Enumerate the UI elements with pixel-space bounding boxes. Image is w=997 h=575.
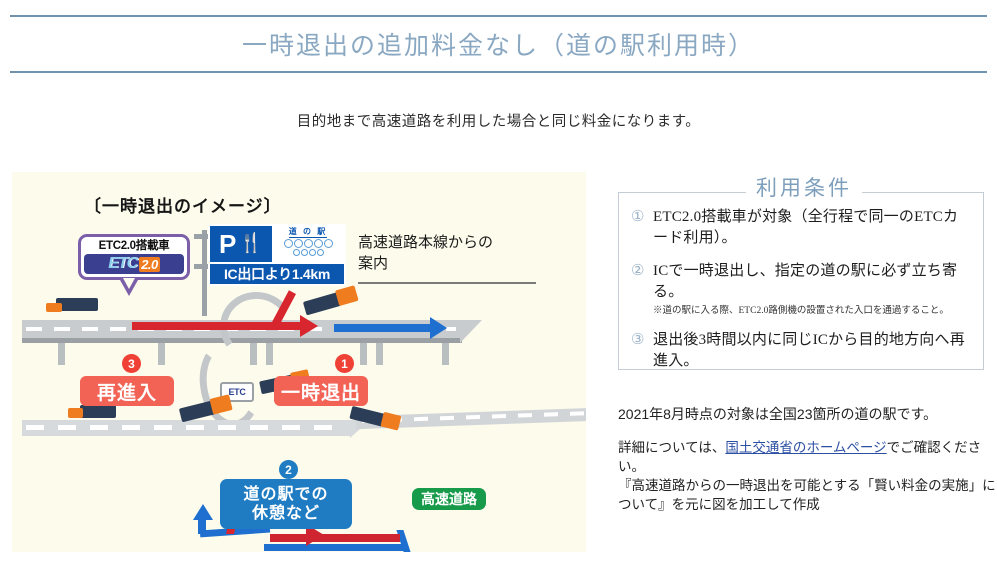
highway-guide-sign: P 🍴 道 の 駅 xyxy=(208,224,346,286)
condition-3-marker: ③ xyxy=(631,330,653,372)
sign-pole xyxy=(202,230,207,316)
lead-paragraph: 目的地まで高速道路を利用した場合と同じ料金になります。 xyxy=(0,110,997,131)
parking-icon: P xyxy=(219,231,236,257)
step-1-number: 1 xyxy=(335,354,354,373)
bridge-pier xyxy=(58,343,65,365)
ring-icon xyxy=(301,249,308,256)
bridge-pier xyxy=(158,343,165,365)
source-note: 『高速道路からの一時退出を可能とする「賢い料金の実施」について』を元に図を加工し… xyxy=(618,476,996,514)
vehicle-cab xyxy=(380,412,401,431)
vehicle-truck xyxy=(302,285,361,320)
vehicle-cab xyxy=(68,408,83,418)
bridge-pier xyxy=(442,343,449,365)
step-2-label-line2: 休憩など xyxy=(252,504,320,523)
ring-icon xyxy=(294,239,303,248)
step-2-number: 2 xyxy=(279,460,298,479)
vehicle-cab xyxy=(46,303,62,312)
sign-distance-prefix: IC出口より xyxy=(224,264,292,284)
continue-flow-arrow-blue xyxy=(334,324,432,332)
bridge-pier xyxy=(376,343,383,365)
illustration-panel: 〔一時退出のイメージ〕 ETC2.0搭載車 ETC 2.0 P 🍴 道 の 駅 xyxy=(12,172,586,552)
ring-icon xyxy=(284,239,293,248)
vehicle-cab xyxy=(335,285,359,306)
exit-path-blue-segment xyxy=(264,544,406,551)
conditions-list: ① ETC2.0搭載車が対象（全行程で同一のETCカード利用）。 ② ICで一時… xyxy=(619,193,983,372)
detail-note-prefix: 詳細については、 xyxy=(618,440,725,455)
usage-conditions-box: ① ETC2.0搭載車が対象（全行程で同一のETCカード利用）。 ② ICで一時… xyxy=(618,192,984,370)
page-header: 一時退出の追加料金なし（道の駅利用時） xyxy=(10,15,987,73)
step-1-label: 一時退出 xyxy=(274,376,368,406)
surface-road-markings xyxy=(26,425,346,430)
guide-text: 高速道路本線からの 案内 xyxy=(358,232,538,274)
ring-icon xyxy=(324,239,333,248)
guide-underline xyxy=(358,282,536,284)
vehicle-truck xyxy=(68,404,118,422)
label-expressway: 高速道路 xyxy=(412,488,486,510)
condition-2-text: ICで一時退出し、指定の道の駅に必ず立ち寄る。 xyxy=(653,261,969,303)
target-count-note: 2021年8月時点の対象は全国23箇所の道の駅です。 xyxy=(618,403,993,425)
expressway-deck-taper xyxy=(460,320,482,343)
condition-item-1: ① ETC2.0搭載車が対象（全行程で同一のETCカード利用）。 xyxy=(631,207,969,249)
page-root: 一時退出の追加料金なし（道の駅利用時） 目的地まで高速道路を利用した場合と同じ料… xyxy=(0,0,997,575)
condition-3-text: 退出後3時間以内に同じICから目的地方向へ再進入。 xyxy=(653,330,969,372)
page-title: 一時退出の追加料金なし（道の駅利用時） xyxy=(242,26,755,62)
sign-distance-unit: km xyxy=(310,266,330,282)
condition-2-note: ※道の駅に入る際、ETC2.0路側機の設置された入口を通過すること。 xyxy=(653,305,969,318)
condition-1-marker: ① xyxy=(631,207,653,249)
ring-icon xyxy=(304,239,313,248)
michi-ring-row-2 xyxy=(293,249,324,256)
ring-icon xyxy=(314,239,323,248)
condition-2-marker: ② xyxy=(631,261,653,318)
step-3-number: 3 xyxy=(122,354,141,373)
michi-no-eki-label: 道 の 駅 xyxy=(289,227,327,238)
etc-logo: ETC 2.0 xyxy=(84,254,184,274)
step-3-label: 再進入 xyxy=(80,376,174,406)
vehicle-cab xyxy=(209,394,232,414)
etc-callout-tail-inner xyxy=(123,278,135,289)
etc-logo-left: ETC xyxy=(108,255,137,273)
ring-icon xyxy=(293,249,300,256)
etc-badge-label: ETC2.0搭載車 xyxy=(84,239,184,253)
ring-icon xyxy=(309,249,316,256)
guide-text-line1: 高速道路本線からの xyxy=(358,232,538,253)
sign-distance-row: IC出口より1.4km xyxy=(210,262,344,284)
vehicle-body xyxy=(56,298,98,311)
sign-distance-number: 1.4 xyxy=(292,266,311,282)
vehicle-body xyxy=(80,405,116,418)
detail-note: 詳細については、国土交通省のホームページでご確認ください。 『高速道路からの一時… xyxy=(618,438,996,514)
condition-item-2: ② ICで一時退出し、指定の道の駅に必ず立ち寄る。 ※道の駅に入る際、ETC2.… xyxy=(631,261,969,318)
exit-path-red-segment xyxy=(270,534,400,542)
michi-ring-row-1 xyxy=(284,239,333,248)
parking-food-symbols: P 🍴 xyxy=(210,226,272,262)
sign-upper-row: P 🍴 道 の 駅 xyxy=(210,226,344,262)
michi-no-eki-logo: 道 の 駅 xyxy=(272,226,344,262)
restaurant-icon: 🍴 xyxy=(239,234,263,254)
ring-icon xyxy=(317,249,324,256)
bridge-pier xyxy=(360,343,367,365)
figure-caption: 〔一時退出のイメージ〕 xyxy=(84,192,282,217)
condition-item-3: ③ 退出後3時間以内に同じICから目的地方向へ再進入。 xyxy=(631,330,969,372)
vehicle-bus xyxy=(46,298,98,314)
guide-text-line2: 案内 xyxy=(358,253,538,274)
etc-logo-right: 2.0 xyxy=(139,257,160,272)
step-2-label: 道の駅での 休憩など xyxy=(220,479,352,529)
mlit-homepage-link[interactable]: 国土交通省のホームページ xyxy=(725,440,886,455)
condition-1-text: ETC2.0搭載車が対象（全行程で同一のETCカード利用）。 xyxy=(653,207,969,249)
usage-conditions-legend: 利用条件 xyxy=(746,172,862,202)
step-2-label-line1: 道の駅での xyxy=(243,485,328,504)
etc-vehicle-badge: ETC2.0搭載車 ETC 2.0 xyxy=(78,234,190,280)
